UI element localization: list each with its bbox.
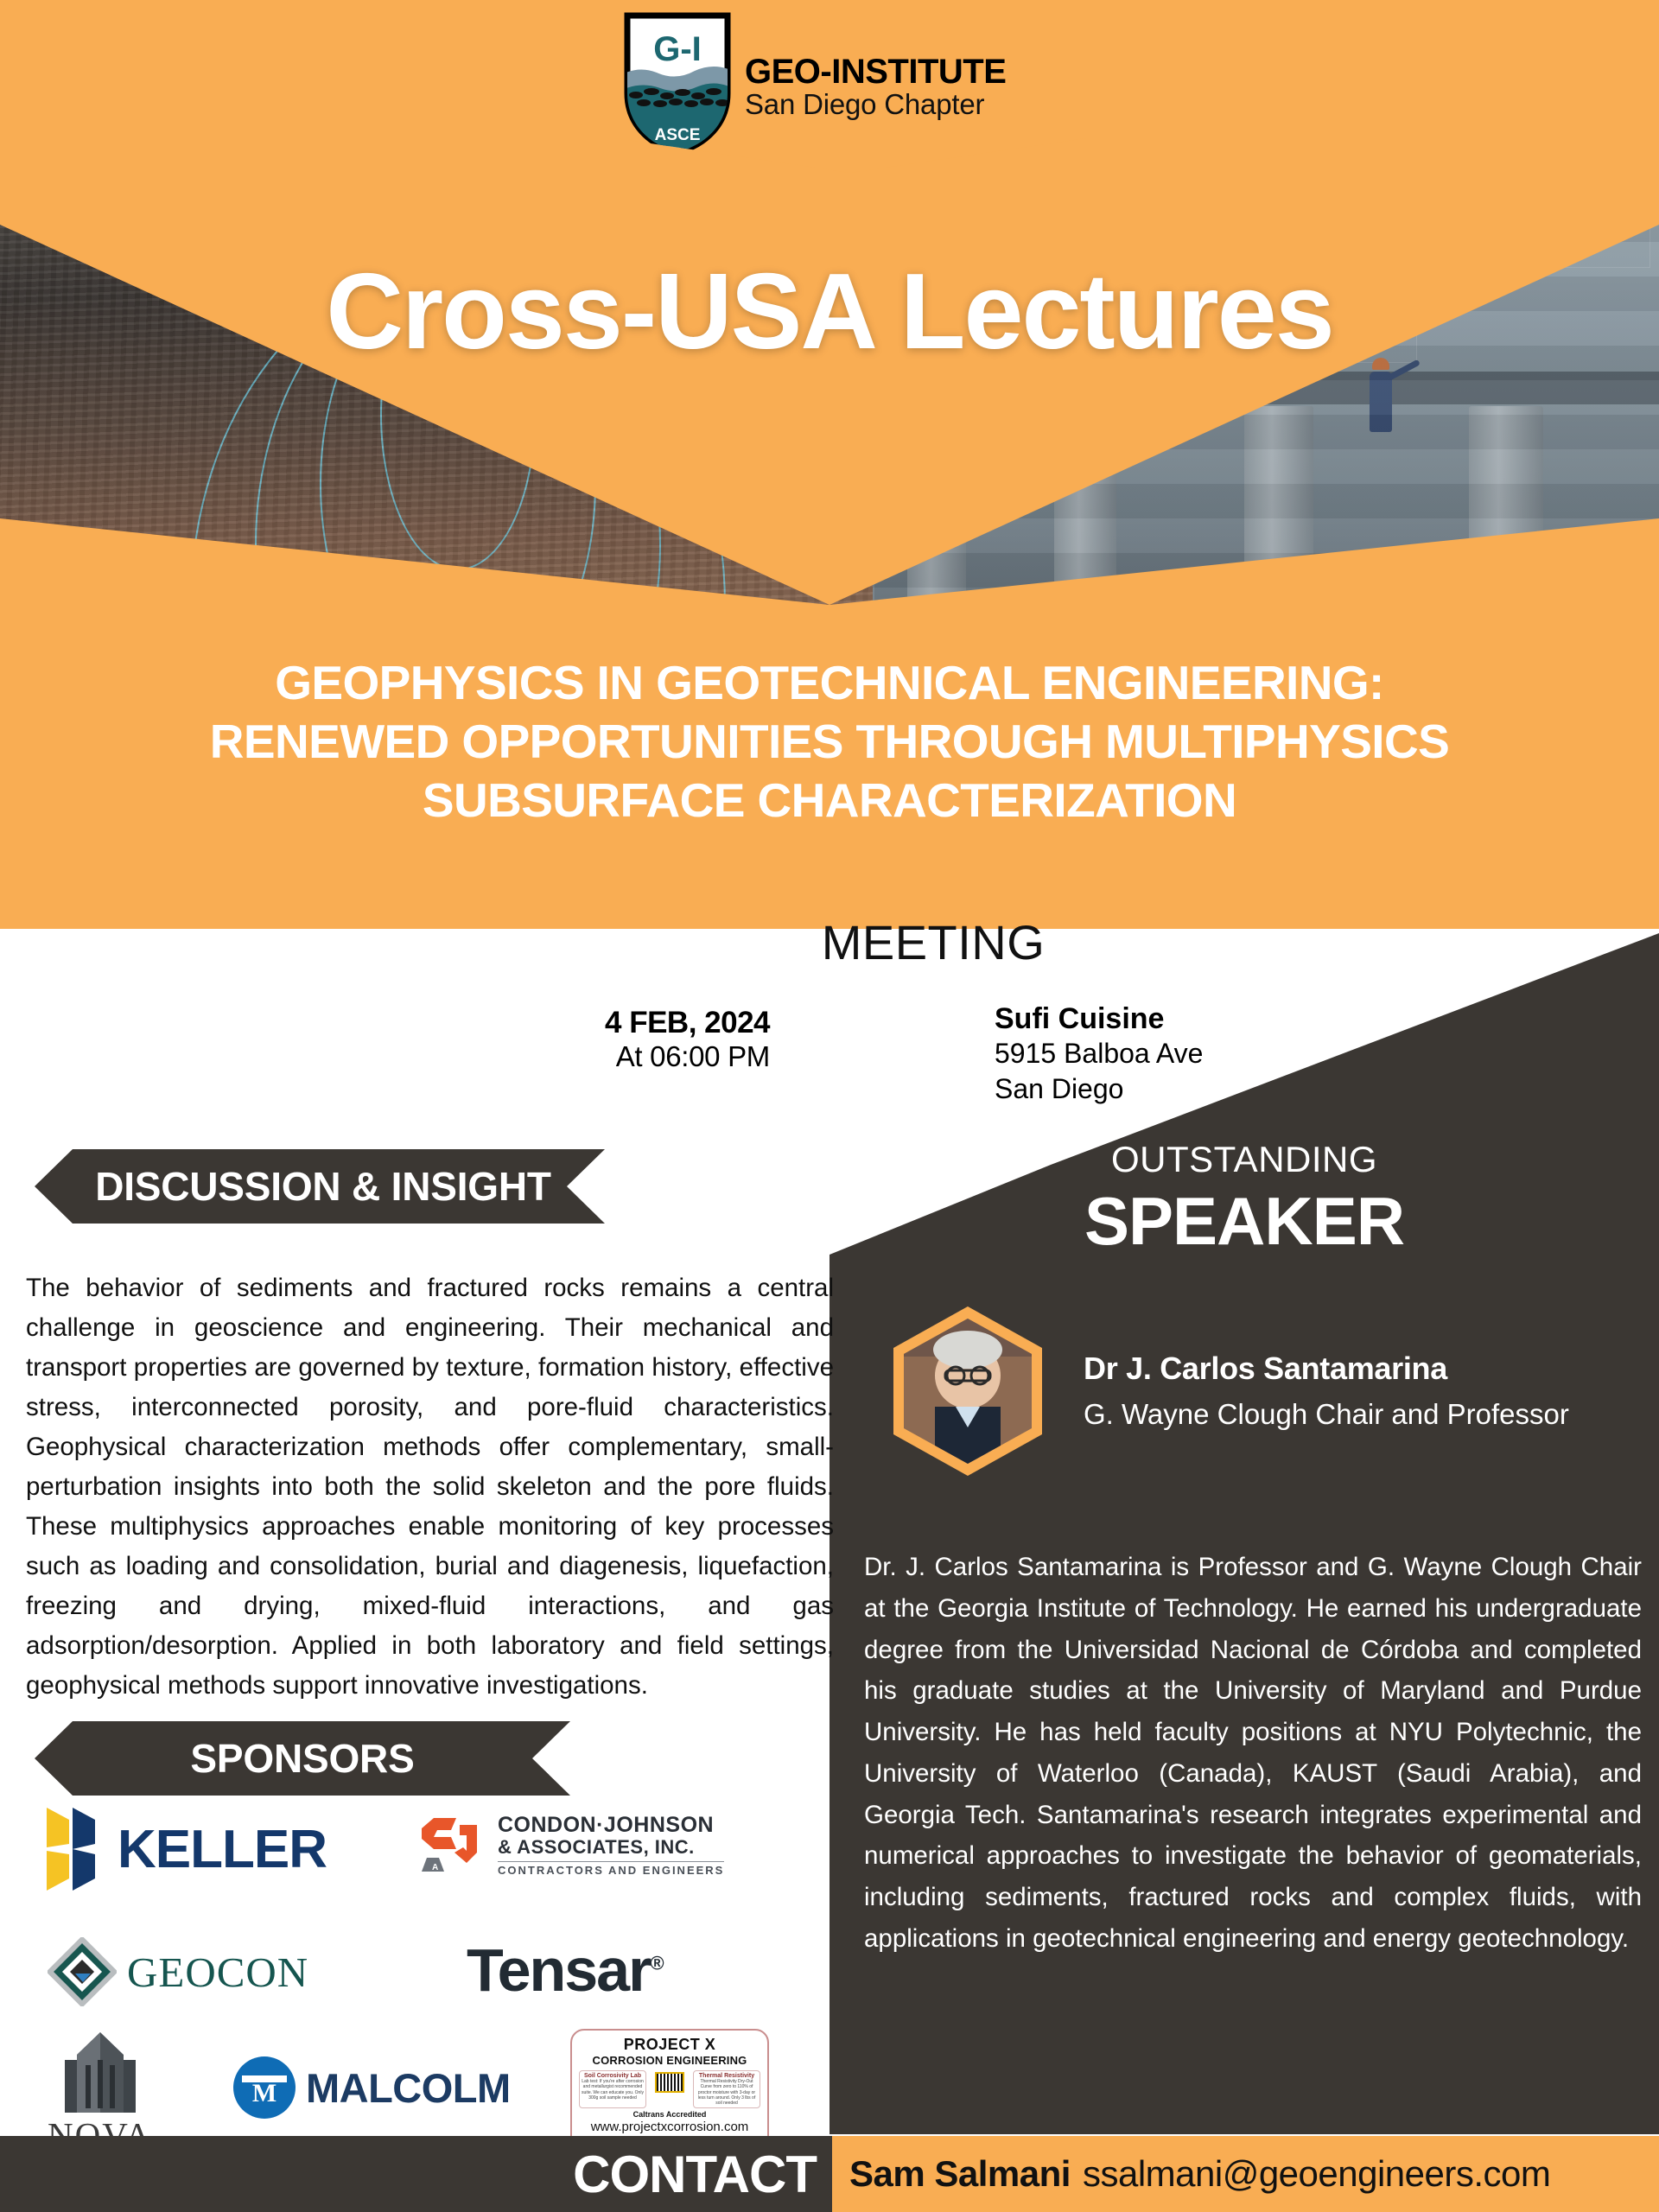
tensar-wordmark: Tensar® (467, 1935, 663, 2005)
discussion-body: The behavior of sediments and fractured … (26, 1268, 834, 1706)
meeting-time: At 06:00 PM (605, 1040, 770, 1073)
calendar-icon (789, 1002, 861, 1079)
keller-logo-icon (43, 1804, 105, 1894)
worker-figure (1370, 372, 1392, 432)
condon-johnson-line1: CONDON·JOHNSON (498, 1813, 724, 1837)
project-x-url: www.projectxcorrosion.com (579, 2120, 760, 2134)
geocon-logo-icon (48, 1937, 117, 2006)
project-x-col-1: Soil Corrosivity Lab Lab test: If you're… (579, 2070, 646, 2108)
condon-johnson-line2: & ASSOCIATES, INC. (498, 1837, 724, 1859)
keller-wordmark: KELLER (118, 1819, 327, 1880)
tensar-name: Tensar (467, 1936, 650, 2004)
lecture-subject-title: GEOPHYSICS IN GEOTECHNICAL ENGINEERING: … (0, 653, 1659, 830)
chapter-name: San Diego Chapter (745, 90, 1006, 120)
sponsors-grid: KELLER A CONDON·JOHNSON & ASSOCIATES, IN… (17, 1797, 829, 2134)
contact-label-block: CONTACT (0, 2136, 832, 2212)
sponsors-tag-label: SPONSORS (190, 1735, 414, 1782)
org-name: GEO-INSTITUTE (745, 54, 1006, 90)
project-x-col2-title: Thermal Resistivity (696, 2073, 758, 2079)
condon-johnson-logo-icon: A (415, 1813, 487, 1877)
discussion-tag-label: DISCUSSION & INSIGHT (95, 1163, 551, 1210)
contact-details-block: Sam Salmani ssalmani@geoengineers.com (832, 2136, 1659, 2212)
svg-text:M: M (252, 2079, 276, 2107)
meeting-datetime: 4 FEB, 2024 At 06:00 PM (605, 1002, 770, 1073)
project-x-qr-block (650, 2070, 690, 2108)
venue-city: San Diego (995, 1071, 1203, 1107)
svg-text:A: A (432, 1863, 438, 1872)
subject-line-1: GEOPHYSICS IN GEOTECHNICAL ENGINEERING: (43, 653, 1616, 712)
sponsor-malcolm: M MALCOLM (233, 2056, 511, 2119)
subject-line-2: RENEWED OPPORTUNITIES THROUGH MULTIPHYSI… (43, 712, 1616, 771)
sponsor-keller: KELLER (43, 1804, 327, 1894)
project-x-subtitle: CORROSION ENGINEERING (579, 2054, 760, 2067)
sponsor-geocon: GEOCON (48, 1937, 308, 2006)
meeting-venue: Sufi Cuisine 5915 Balboa Ave San Diego (995, 1002, 1203, 1107)
project-x-col2-body: Thermal Resistivity Dry-Out Curve from z… (696, 2079, 758, 2106)
qr-code-icon (655, 2072, 684, 2093)
speaker-header: Dr J. Carlos Santamarina G. Wayne Clough… (881, 1296, 1642, 1486)
meeting-date: 4 FEB, 2024 (605, 1006, 770, 1040)
meeting-block: MEETING 4 FEB, 2024 At 06:00 PM (605, 914, 1262, 1107)
hero-title: Cross-USA Lectures (0, 251, 1659, 373)
project-x-col-2: Thermal Resistivity Thermal Resistivity … (693, 2070, 760, 2108)
contact-bar: CONTACT Sam Salmani ssalmani@geoengineer… (0, 2136, 1659, 2212)
speaker-name: Dr J. Carlos Santamarina (1084, 1351, 1569, 1387)
nova-logo-icon (53, 2031, 148, 2113)
malcolm-logo-icon: M (233, 2056, 296, 2119)
contact-label: CONTACT (573, 2145, 817, 2204)
project-x-accreditation: Caltrans Accredited (579, 2110, 760, 2119)
sponsor-tensar: Tensar® (467, 1935, 663, 2005)
meeting-heading: MEETING (605, 914, 1262, 970)
logo-wordmark: GEO-INSTITUTE San Diego Chapter (745, 54, 1006, 120)
tensar-trademark: ® (650, 1953, 662, 1974)
svg-text:G-I: G-I (653, 30, 702, 68)
malcolm-wordmark: MALCOLM (306, 2064, 511, 2112)
venue-street: 5915 Balboa Ave (995, 1036, 1203, 1071)
project-x-col1-body: Lab test: If you're after corrosion and … (582, 2079, 644, 2101)
svg-text:ASCE: ASCE (655, 126, 701, 144)
meeting-divider (619, 976, 1072, 983)
project-x-title: PROJECT X (579, 2036, 760, 2054)
meeting-vertical-divider (884, 1006, 887, 1103)
speaker-eyebrow: OUTSTANDING (829, 1139, 1659, 1180)
geocon-wordmark: GEOCON (127, 1948, 308, 1997)
sponsors-tag: SPONSORS (35, 1721, 570, 1796)
project-x-col1-title: Soil Corrosivity Lab (582, 2073, 644, 2079)
venue-name: Sufi Cuisine (995, 1002, 1203, 1036)
gi-asce-shield-icon: G-I ASCE (622, 10, 733, 156)
logo-badge: G-I ASCE GEO-INSTITUTE San Diego Chapter (615, 0, 1086, 173)
sponsor-condon-johnson: A CONDON·JOHNSON & ASSOCIATES, INC. CONT… (415, 1813, 724, 1877)
condon-johnson-line3: CONTRACTORS AND ENGINEERS (498, 1861, 724, 1878)
speaker-bio: Dr. J. Carlos Santamarina is Professor a… (864, 1547, 1642, 1960)
avatar (881, 1296, 1054, 1486)
contact-person: Sam Salmani (849, 2153, 1071, 2195)
discussion-tag: DISCUSSION & INSIGHT (35, 1149, 605, 1224)
speaker-heading: SPEAKER (829, 1182, 1659, 1261)
contact-email[interactable]: ssalmani@geoengineers.com (1083, 2153, 1550, 2195)
location-pin-icon (915, 1002, 976, 1090)
subject-line-3: SUBSURFACE CHARACTERIZATION (43, 771, 1616, 829)
speaker-role: G. Wayne Clough Chair and Professor (1084, 1397, 1569, 1432)
